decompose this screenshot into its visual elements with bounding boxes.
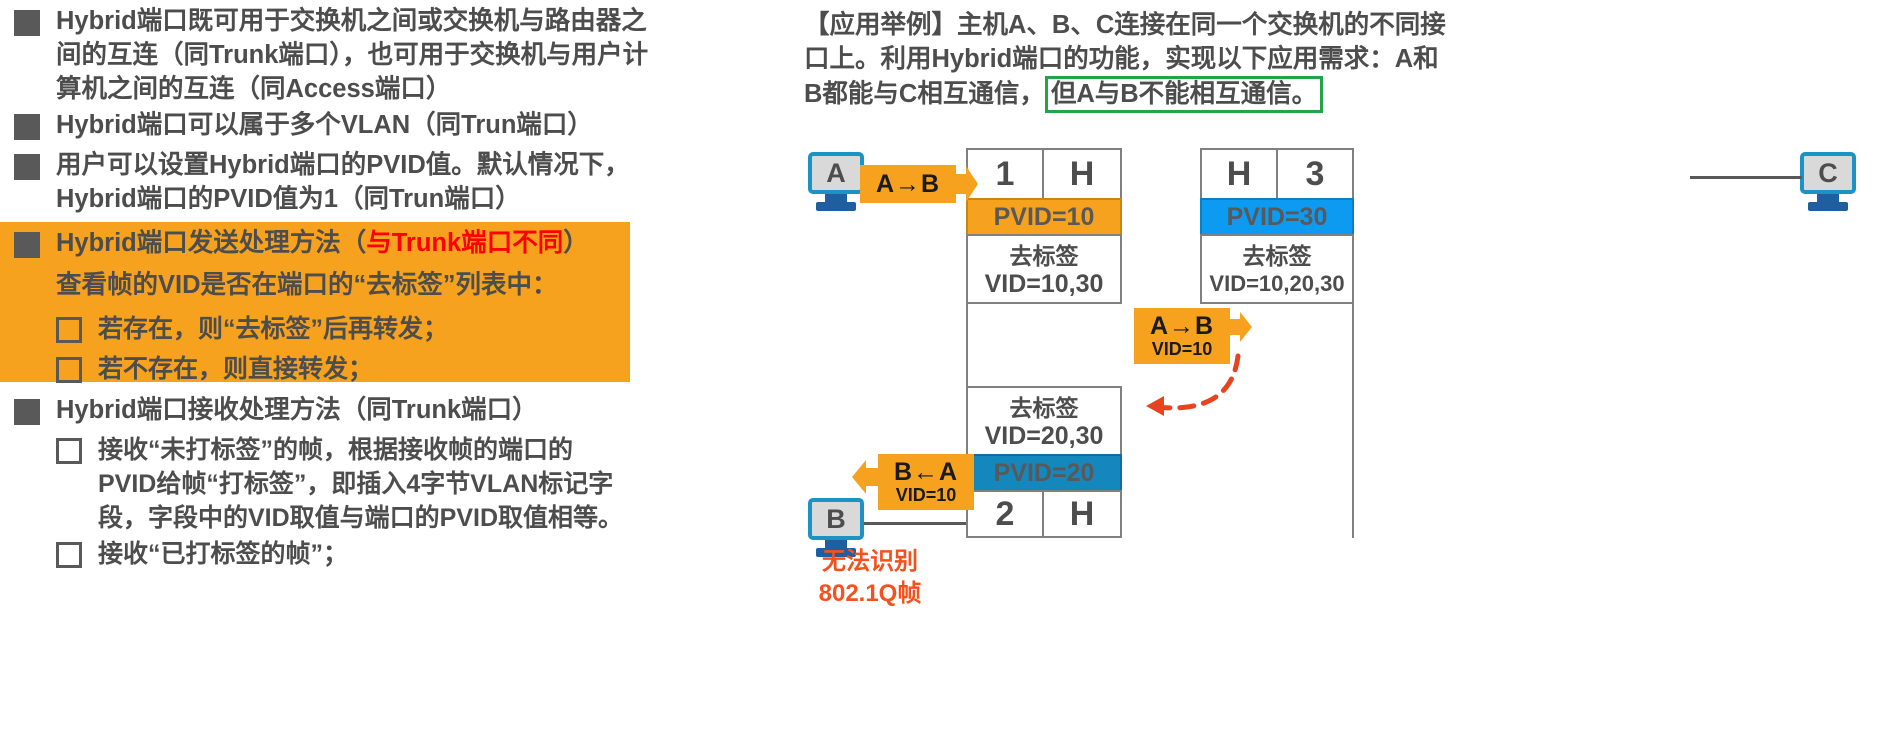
port-1-untag-vids: VID=10,30 xyxy=(985,270,1104,298)
unrecognized-note-line-2: 802.1Q帧 xyxy=(790,578,950,610)
port-2-type: H xyxy=(1042,490,1122,538)
port-3-number: 3 xyxy=(1276,148,1354,200)
highlight-subheading: 查看帧的VID是否在端口的“去标签”列表中： xyxy=(56,268,636,302)
port-1-untag: 去标签 VID=10,30 xyxy=(966,234,1122,304)
badge-a-to-b-in-arrow-icon xyxy=(954,166,978,202)
unrecognized-note: 无法识别 802.1Q帧 xyxy=(790,546,950,610)
bullet-text-1: Hybrid端口既可用于交换机之间或交换机与路由器之 间的互连（同Trunk端口… xyxy=(56,4,648,106)
port-3-pvid: PVID=30 xyxy=(1200,198,1354,236)
paragraph-line-2: 口上。利用Hybrid端口的功能，实现以下应用需求：A和 xyxy=(804,42,1864,76)
port-3-untag-title: 去标签 xyxy=(1243,242,1312,270)
highlight-check-text-1: 若存在，则“去标签”后再转发； xyxy=(98,312,448,346)
highlight-heading-suffix: ） xyxy=(563,229,589,257)
unrecognized-note-line-1: 无法识别 xyxy=(790,546,950,578)
badge-b-from-a-label: B←A xyxy=(894,459,958,485)
host-c-label: C xyxy=(1800,152,1856,194)
port-1-pvid: PVID=10 xyxy=(966,198,1122,236)
badge-b-from-a-arrow-icon xyxy=(852,460,880,494)
right-column: 【应用举例】主机A、B、C连接在同一个交换机的不同接 口上。利用Hybrid端口… xyxy=(790,0,1882,743)
port-3-untag-vids: VID=10,20,30 xyxy=(1209,270,1344,298)
host-a: A xyxy=(808,152,864,211)
bullet-square-icon xyxy=(14,10,40,36)
port-2-number: 2 xyxy=(966,490,1044,538)
bullet-square-icon xyxy=(14,399,40,425)
wire-b xyxy=(864,522,974,525)
bullet-square-icon xyxy=(14,232,40,258)
highlight-heading-row: Hybrid端口发送处理方法（与Trunk端口不同） xyxy=(14,226,634,260)
checkbox-icon xyxy=(56,438,82,464)
bullet-square-icon xyxy=(14,154,40,180)
port-2-untag-title: 去标签 xyxy=(1010,394,1079,422)
bullet-item-1: Hybrid端口既可用于交换机之间或交换机与路由器之 间的互连（同Trunk端口… xyxy=(14,4,714,106)
host-stand xyxy=(825,194,847,202)
port-1-untag-title: 去标签 xyxy=(1010,242,1079,270)
port-1-type: H xyxy=(1042,148,1122,200)
bullet-text-4: Hybrid端口接收处理方法（同Trunk端口） xyxy=(56,393,538,427)
left-column: Hybrid端口既可用于交换机之间或交换机与路由器之 间的互连（同Trunk端口… xyxy=(0,0,790,743)
highlight-heading: Hybrid端口发送处理方法（与Trunk端口不同） xyxy=(56,226,589,260)
paragraph-line-3-prefix: B都能与C相互通信， xyxy=(804,80,1045,108)
dashed-redirect-arrow-icon xyxy=(1120,350,1250,430)
host-base xyxy=(1808,202,1848,211)
badge-a-to-b-in: A→B xyxy=(860,165,956,203)
slide-page: Hybrid端口既可用于交换机之间或交换机与路由器之 间的互连（同Trunk端口… xyxy=(0,0,1882,743)
bullet-item-2: Hybrid端口可以属于多个VLAN（同Trun端口） xyxy=(14,108,714,142)
badge-a-to-b-in-label: A→B xyxy=(876,171,940,197)
highlight-heading-red: 与Trunk端口不同 xyxy=(366,229,563,257)
sub-item-1: 接收“未打标签”的帧，根据接收帧的端口的 PVID给帧“打标签”，即插入4字节V… xyxy=(56,433,736,535)
sub-item-text-2: 接收“已打标签的帧”； xyxy=(98,537,348,571)
host-b-label: B xyxy=(808,498,864,540)
highlight-check-text-2: 若不存在，则直接转发； xyxy=(98,352,373,386)
paragraph-boxed-note: 但A与B不能相互通信。 xyxy=(1045,76,1323,113)
highlight-check-item-2: 若不存在，则直接转发； xyxy=(56,352,616,386)
badge-a-to-b-mid-arrow-icon xyxy=(1228,312,1252,342)
badge-b-from-a: B←A VID=10 xyxy=(878,454,974,510)
port-3-untag: 去标签 VID=10,20,30 xyxy=(1200,234,1354,304)
host-c: C xyxy=(1800,152,1856,211)
host-stand xyxy=(1817,194,1839,202)
sub-item-text-1: 接收“未打标签”的帧，根据接收帧的端口的 PVID给帧“打标签”，即插入4字节V… xyxy=(98,433,623,535)
host-a-label: A xyxy=(808,152,864,194)
highlight-check-item-1: 若存在，则“去标签”后再转发； xyxy=(56,312,616,346)
port-2-pvid: PVID=20 xyxy=(966,454,1122,492)
host-base xyxy=(816,202,856,211)
bullet-square-icon xyxy=(14,114,40,140)
bullet-text-3: 用户可以设置Hybrid端口的PVID值。默认情况下， Hybrid端口的PVI… xyxy=(56,148,630,216)
bullet-item-4: Hybrid端口接收处理方法（同Trunk端口） xyxy=(14,393,714,427)
vlan-diagram: A B C 1 xyxy=(790,140,1882,740)
checkbox-icon xyxy=(56,357,82,383)
highlight-heading-prefix: Hybrid端口发送处理方法（ xyxy=(56,229,366,257)
sub-item-2: 接收“已打标签的帧”； xyxy=(56,537,736,571)
paragraph-line-3: B都能与C相互通信，但A与B不能相互通信。 xyxy=(804,76,1864,113)
checkbox-icon xyxy=(56,317,82,343)
port-2-untag: 去标签 VID=20,30 xyxy=(966,386,1122,456)
wire-c xyxy=(1690,176,1802,179)
bullet-item-3: 用户可以设置Hybrid端口的PVID值。默认情况下， Hybrid端口的PVI… xyxy=(14,148,714,216)
example-paragraph: 【应用举例】主机A、B、C连接在同一个交换机的不同接 口上。利用Hybrid端口… xyxy=(804,8,1864,113)
port-3-type: H xyxy=(1200,148,1278,200)
bullet-text-2: Hybrid端口可以属于多个VLAN（同Trun端口） xyxy=(56,108,593,142)
paragraph-line-1: 【应用举例】主机A、B、C连接在同一个交换机的不同接 xyxy=(804,8,1864,42)
port-2-untag-vids: VID=20,30 xyxy=(985,422,1104,450)
badge-b-from-a-vid: VID=10 xyxy=(896,486,957,505)
checkbox-icon xyxy=(56,542,82,568)
badge-a-to-b-mid-label: A→B xyxy=(1150,313,1214,339)
